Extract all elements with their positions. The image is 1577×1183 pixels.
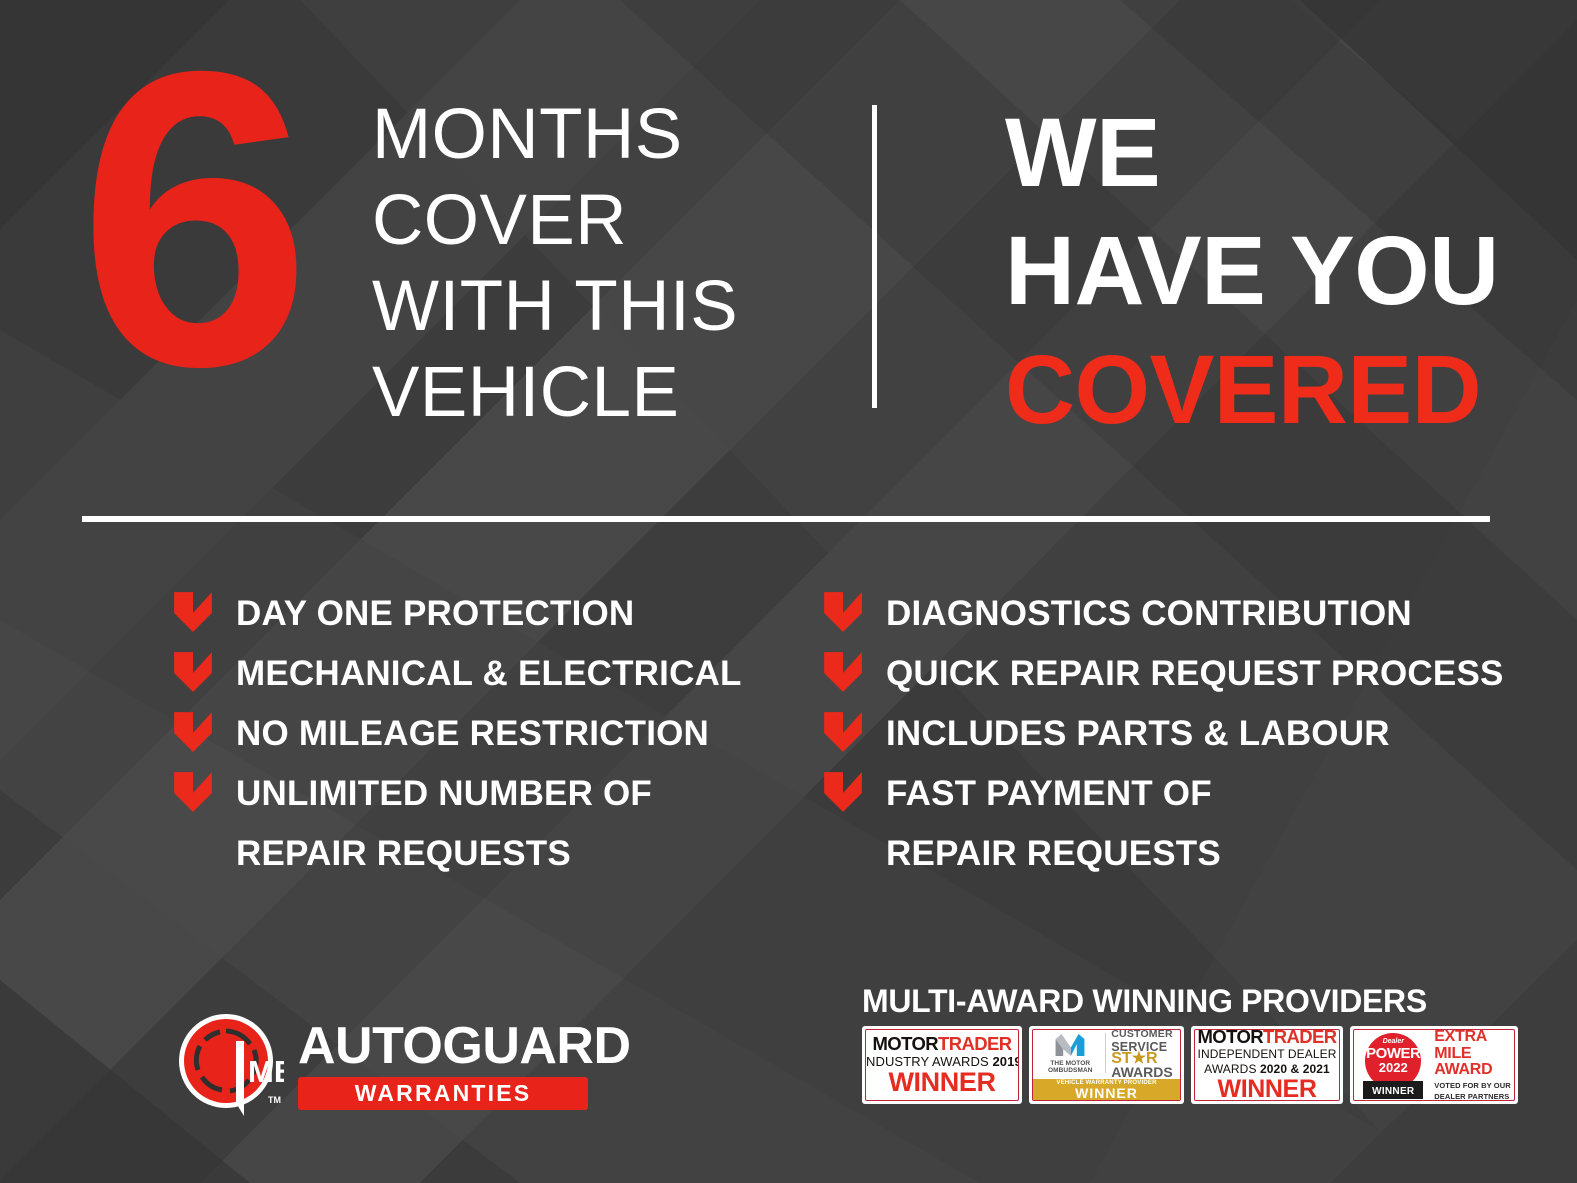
ombudsman-line2: OMBUDSMAN bbox=[1048, 1067, 1093, 1074]
header-section: 6 MONTHS COVER WITH THIS VEHICLE WE HAVE… bbox=[0, 0, 1577, 470]
warranty-promo-banner: 6 MONTHS COVER WITH THIS VEHICLE WE HAVE… bbox=[0, 0, 1577, 1183]
ema-line3: AWARD bbox=[1434, 1062, 1492, 1079]
check-chevron-icon bbox=[822, 590, 864, 634]
ema-line1: EXTRA bbox=[1434, 1029, 1487, 1046]
award-badge-motor-trader-2020-2021: MOTORTRADER INDEPENDENT DEALER AWARDS 20… bbox=[1191, 1026, 1343, 1104]
feature-label: UNLIMITED NUMBER OF bbox=[236, 772, 652, 816]
badge-ribbon: VEHICLE WARRANTY PROVIDER WINNER bbox=[1033, 1079, 1180, 1101]
ombudsman-line1: THE MOTOR bbox=[1050, 1060, 1090, 1067]
badge-result: WINNER bbox=[888, 1069, 995, 1096]
feature-item: FAST PAYMENT OF bbox=[822, 772, 1522, 832]
feature-item: UNLIMITED NUMBER OF bbox=[172, 772, 812, 832]
feature-item: MECHANICAL & ELECTRICAL bbox=[172, 652, 812, 712]
cover-headline-line-1: MONTHS bbox=[372, 92, 738, 178]
car-dealer-power-seal: Dealer POWER 2022 WINNER bbox=[1357, 1030, 1429, 1100]
awards-title: MULTI-AWARD WINNING PROVIDERS bbox=[862, 984, 1498, 1018]
feature-label: DIAGNOSTICS CONTRIBUTION bbox=[886, 592, 1412, 636]
spacer-icon bbox=[822, 830, 864, 874]
tagline-line-2: HAVE YOU bbox=[1005, 212, 1499, 330]
badge-result: WINNER bbox=[1218, 1076, 1317, 1101]
cover-headline-line-4: VEHICLE bbox=[372, 350, 738, 436]
check-chevron-icon bbox=[822, 770, 864, 814]
check-chevron-icon bbox=[172, 770, 214, 814]
tagline-line-3-highlight: COVERED bbox=[1005, 331, 1499, 449]
warranties-label: WARRANTIES bbox=[355, 1080, 532, 1107]
warranties-bar: WARRANTIES bbox=[298, 1077, 588, 1110]
extra-mile-award: EXTRA MILE AWARD VOTED FOR BY OUR DEALER… bbox=[1434, 1029, 1510, 1101]
feature-label: FAST PAYMENT OF bbox=[886, 772, 1212, 816]
badge-brand: MOTORTRADER bbox=[872, 1034, 1011, 1053]
feature-item: QUICK REPAIR REQUEST PROCESS bbox=[822, 652, 1522, 712]
seal-year: 2022 bbox=[1357, 1061, 1429, 1075]
feature-item: INCLUDES PARTS & LABOUR bbox=[822, 712, 1522, 772]
seal-power: POWER bbox=[1357, 1046, 1429, 1061]
feature-label: MECHANICAL & ELECTRICAL bbox=[236, 652, 742, 696]
badge-years: 2020 & 2021 bbox=[1260, 1062, 1330, 1076]
feature-item-continuation: REPAIR REQUESTS bbox=[822, 832, 1522, 892]
horizontal-divider bbox=[82, 516, 1490, 522]
cover-headline-line-3: WITH THIS bbox=[372, 264, 738, 350]
seal-result-banner: WINNER bbox=[1363, 1081, 1423, 1099]
badge-subtitle-2: AWARDS 2020 & 2021 bbox=[1204, 1062, 1330, 1076]
awards-section: MULTI-AWARD WINNING PROVIDERS MOTORTRADE… bbox=[862, 984, 1498, 1104]
feature-item-continuation: REPAIR REQUESTS bbox=[172, 832, 812, 892]
autoguard-wordmark: AUTOGUARD WARRANTIES bbox=[298, 1020, 631, 1110]
tagline-line-1: WE bbox=[1005, 94, 1499, 212]
autoguard-brand-logo: MBi TM AUTOGUARD WARRANTIES bbox=[176, 1008, 631, 1120]
css-line1: CUSTOMER bbox=[1111, 1029, 1173, 1041]
svg-text:MBi: MBi bbox=[248, 1054, 284, 1089]
feature-label: NO MILEAGE RESTRICTION bbox=[236, 712, 709, 756]
award-badge-motor-trader-2019: MOTORTRADER INDUSTRY AWARDS 2019 WINNER bbox=[862, 1026, 1022, 1104]
check-chevron-icon bbox=[172, 590, 214, 634]
feature-item: NO MILEAGE RESTRICTION bbox=[172, 712, 812, 772]
award-badge-motor-ombudsman: THE MOTOROMBUDSMAN CUSTOMER SERVICE ST★R… bbox=[1029, 1026, 1184, 1104]
check-chevron-icon bbox=[172, 650, 214, 694]
award-badge-car-dealer-power-2022: Dealer POWER 2022 WINNER EXTRA MILE AWAR… bbox=[1350, 1026, 1518, 1104]
ema-sub1: VOTED FOR BY OUR bbox=[1434, 1081, 1510, 1090]
ema-sub2: DEALER PARTNERS bbox=[1434, 1092, 1509, 1101]
autoguard-name: AUTOGUARD bbox=[298, 1017, 631, 1075]
motor-ombudsman-logo: THE MOTOROMBUDSMAN bbox=[1040, 1032, 1100, 1075]
tagline-headline: WE HAVE YOU COVERED bbox=[1005, 94, 1499, 449]
ema-line2: MILE bbox=[1434, 1046, 1471, 1063]
badge-brand-part1: MOTOR bbox=[872, 1033, 938, 1054]
badge-separator bbox=[1105, 1033, 1106, 1073]
feature-item: DIAGNOSTICS CONTRIBUTION bbox=[822, 592, 1522, 652]
feature-label: QUICK REPAIR REQUEST PROCESS bbox=[886, 652, 1504, 696]
features-right-column: DIAGNOSTICS CONTRIBUTION QUICK REPAIR RE… bbox=[822, 592, 1522, 892]
cover-months-number: 6 bbox=[78, 48, 300, 392]
header-vertical-divider bbox=[872, 105, 877, 408]
customer-service-star-awards: CUSTOMER SERVICE ST★R AWARDS bbox=[1111, 1029, 1173, 1078]
badge-brand: MOTORTRADER bbox=[1197, 1029, 1336, 1046]
css-line4: AWARDS bbox=[1111, 1066, 1172, 1079]
cover-headline-line-2: COVER bbox=[372, 178, 738, 264]
check-chevron-icon bbox=[172, 710, 214, 754]
feature-label: REPAIR REQUESTS bbox=[236, 832, 571, 876]
ombudsman-m-icon bbox=[1053, 1032, 1087, 1058]
seal-result: WINNER bbox=[1372, 1086, 1414, 1097]
award-badges-row: MOTORTRADER INDUSTRY AWARDS 2019 WINNER bbox=[862, 1026, 1498, 1104]
ribbon-result: WINNER bbox=[1075, 1086, 1138, 1101]
check-chevron-icon bbox=[822, 650, 864, 694]
badge-year: 2019 bbox=[992, 1054, 1019, 1069]
feature-label: DAY ONE PROTECTION bbox=[236, 592, 634, 636]
check-chevron-icon bbox=[822, 710, 864, 754]
features-left-column: DAY ONE PROTECTION MECHANICAL & ELECTRIC… bbox=[172, 592, 812, 892]
badge-awards-text: AWARDS bbox=[1204, 1062, 1260, 1076]
badge-brand-part2: TRADER bbox=[1263, 1029, 1336, 1047]
mbi-logo-icon: MBi TM bbox=[176, 1008, 284, 1120]
badge-brand-part2: TRADER bbox=[938, 1033, 1011, 1054]
badge-subtitle: INDEPENDENT DEALER bbox=[1198, 1047, 1337, 1061]
badge-brand-part1: MOTOR bbox=[1197, 1029, 1263, 1047]
feature-label: REPAIR REQUESTS bbox=[886, 832, 1221, 876]
feature-label: INCLUDES PARTS & LABOUR bbox=[886, 712, 1390, 756]
svg-text:TM: TM bbox=[268, 1095, 281, 1105]
spacer-icon bbox=[172, 830, 214, 874]
cover-headline: MONTHS COVER WITH THIS VEHICLE bbox=[372, 92, 738, 436]
feature-item: DAY ONE PROTECTION bbox=[172, 592, 812, 652]
